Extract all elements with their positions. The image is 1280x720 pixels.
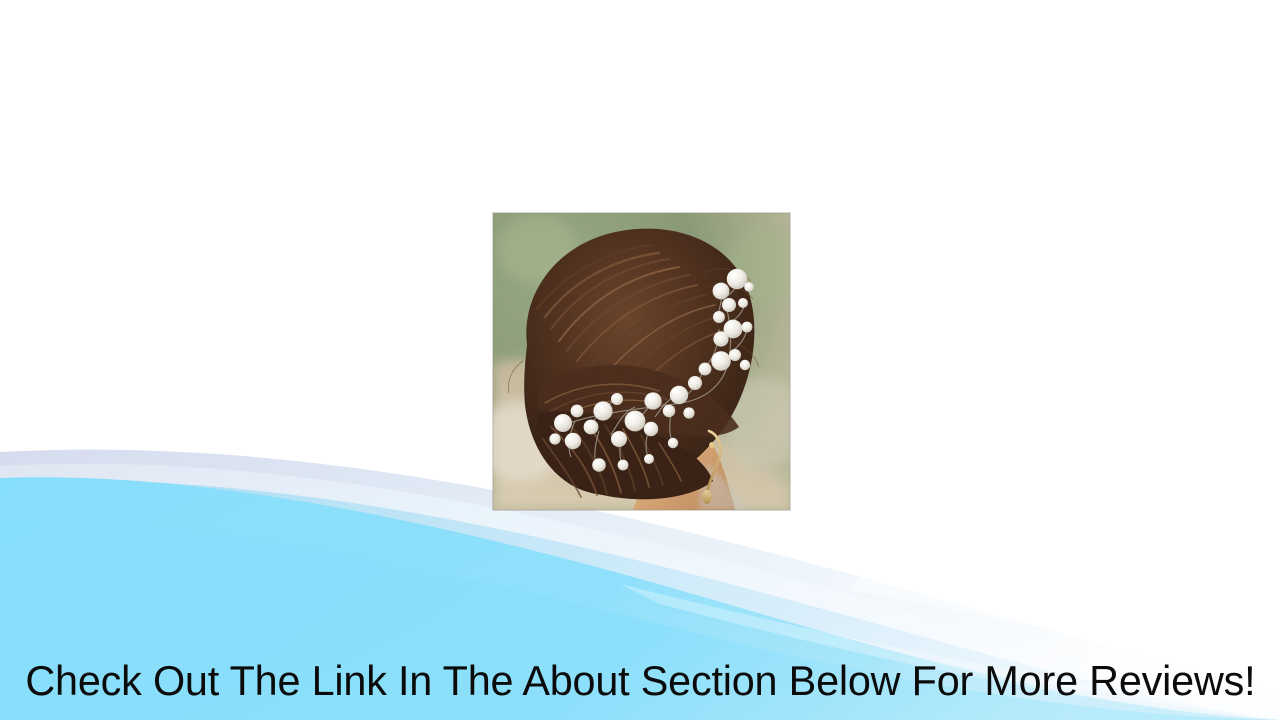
caption-bar: Check Out The Link In The About Section … — [0, 650, 1280, 712]
caption-text: Check Out The Link In The About Section … — [25, 659, 1255, 703]
slide-canvas: Check Out The Link In The About Section … — [0, 0, 1280, 720]
product-image — [493, 213, 790, 510]
